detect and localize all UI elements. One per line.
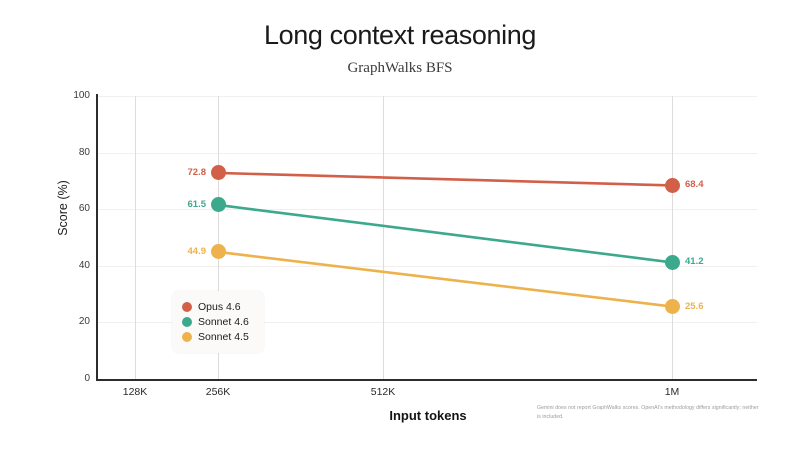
- legend-item[interactable]: Sonnet 4.5: [172, 329, 264, 344]
- y-tick-label: 80: [46, 148, 90, 158]
- legend-swatch-icon: [182, 332, 192, 342]
- x-tick-label: 256K: [173, 386, 263, 398]
- x-tick-label: 1M: [627, 386, 717, 398]
- gridline-vertical: [672, 96, 673, 379]
- chart-footnote: Gemini does not report GraphWalks scores…: [537, 404, 762, 421]
- gridline-horizontal: [98, 266, 757, 267]
- gridline-horizontal: [98, 153, 757, 154]
- data-point-value-label: 44.9: [166, 247, 206, 257]
- data-point-marker[interactable]: [211, 165, 226, 180]
- legend-item-label: Sonnet 4.5: [198, 331, 249, 343]
- data-point-value-label: 25.6: [685, 302, 704, 312]
- data-point-marker[interactable]: [665, 255, 680, 270]
- y-tick-label: 0: [46, 374, 90, 384]
- y-tick-label: 40: [46, 261, 90, 271]
- data-point-marker[interactable]: [211, 244, 226, 259]
- x-axis-spine: [96, 379, 757, 381]
- data-point-marker[interactable]: [665, 299, 680, 314]
- data-point-value-label: 61.5: [166, 200, 206, 210]
- legend-item[interactable]: Opus 4.6: [172, 299, 264, 314]
- x-tick-label: 512K: [338, 386, 428, 398]
- chart-legend: Opus 4.6 Sonnet 4.6 Sonnet 4.5: [172, 291, 264, 353]
- data-point-value-label: 68.4: [685, 180, 704, 190]
- data-point-marker[interactable]: [665, 178, 680, 193]
- gridline-vertical: [383, 96, 384, 379]
- legend-item-label: Opus 4.6: [198, 301, 241, 313]
- legend-swatch-icon: [182, 317, 192, 327]
- data-point-marker[interactable]: [211, 197, 226, 212]
- legend-item[interactable]: Sonnet 4.6: [172, 314, 264, 329]
- chart-title: Long context reasoning: [0, 20, 800, 51]
- y-tick-label: 100: [46, 91, 90, 101]
- data-point-value-label: 72.8: [166, 168, 206, 178]
- data-point-value-label: 41.2: [685, 257, 704, 267]
- chart-subtitle: GraphWalks BFS: [0, 60, 800, 77]
- y-axis-label: Score (%): [56, 158, 70, 258]
- legend-item-label: Sonnet 4.6: [198, 316, 249, 328]
- gridline-vertical: [135, 96, 136, 379]
- gridline-horizontal: [98, 96, 757, 97]
- x-tick-label: 128K: [90, 386, 180, 398]
- legend-swatch-icon: [182, 302, 192, 312]
- y-tick-label: 20: [46, 317, 90, 327]
- y-axis-spine: [96, 94, 98, 381]
